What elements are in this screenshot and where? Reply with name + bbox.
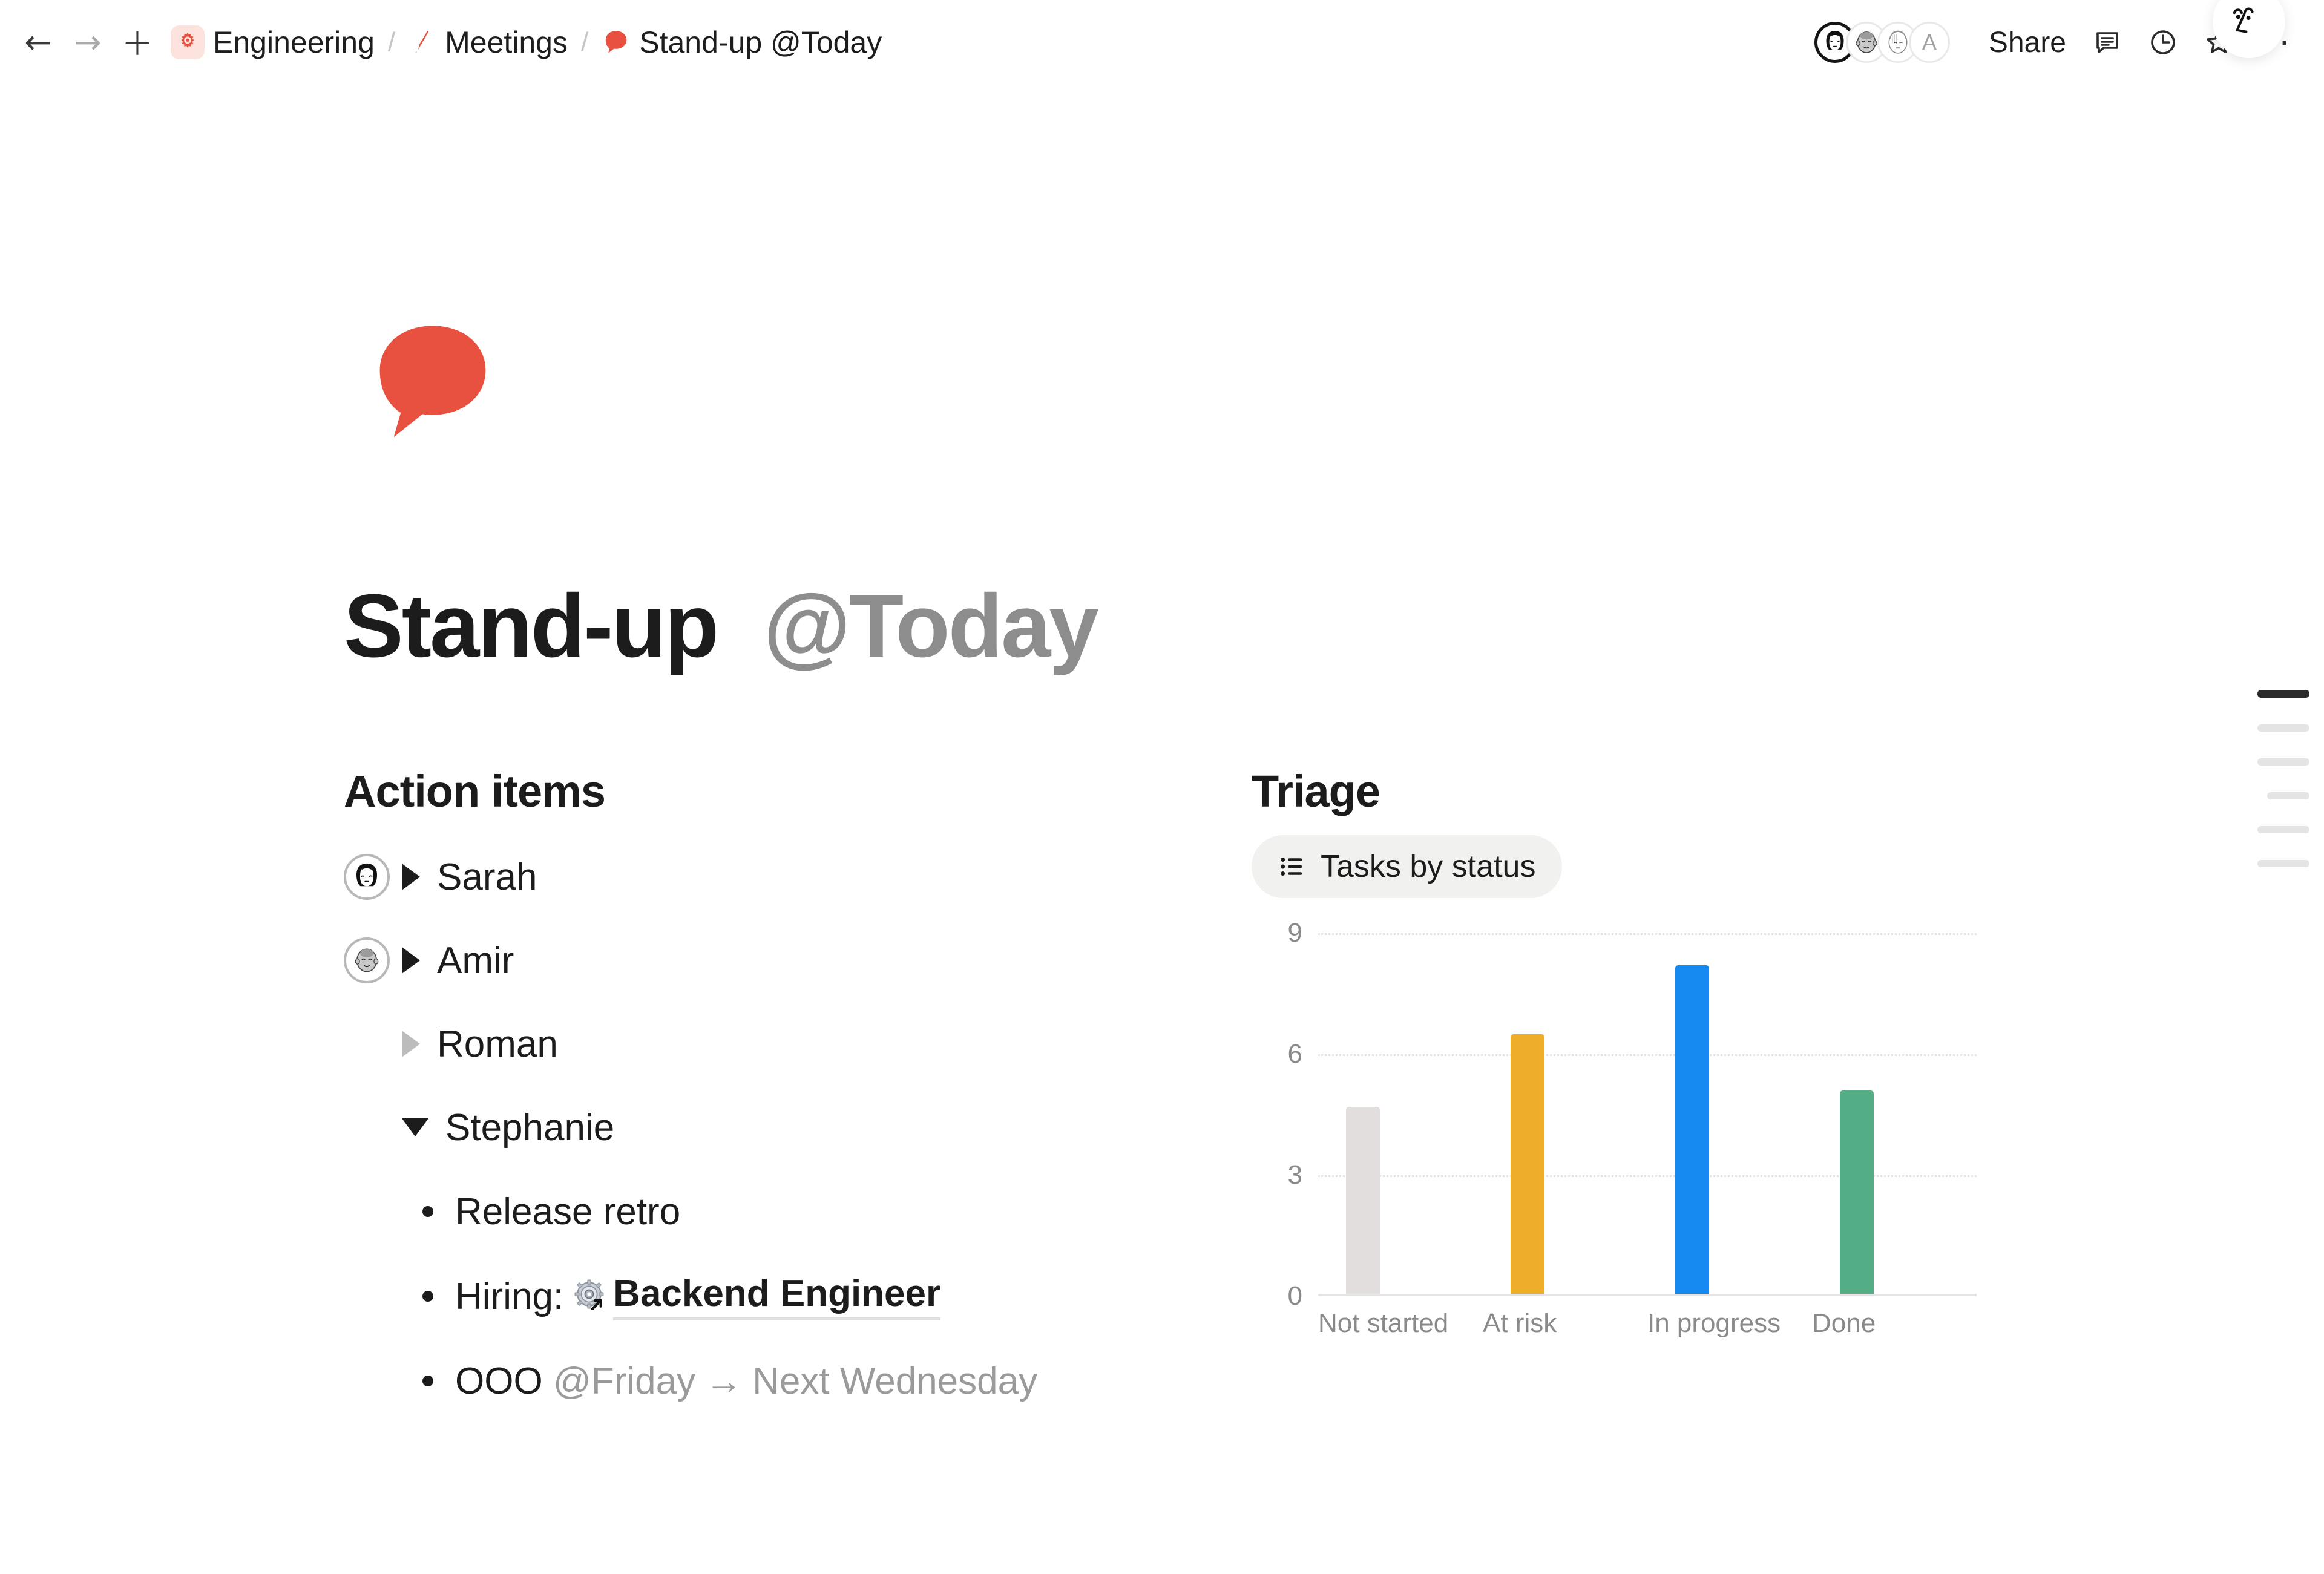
outline-item[interactable]: [2257, 860, 2309, 867]
action-item-roman[interactable]: Roman: [344, 1002, 1252, 1086]
chart-bar-slot: [1483, 933, 1647, 1296]
bullet-icon: [422, 1376, 433, 1386]
page-emoji-speech-bubble[interactable]: [363, 315, 502, 454]
chart-bar[interactable]: [1346, 1107, 1380, 1296]
chart-axis-line: [1318, 1294, 1977, 1296]
triage-section: Triage Tasks by status 0369 Not startedA…: [1252, 766, 2159, 1320]
list-item-text: Release retro: [455, 1190, 680, 1233]
forward-button[interactable]: →: [63, 18, 113, 67]
chart-bars: [1318, 933, 1977, 1296]
list-item[interactable]: Release retro: [344, 1169, 1252, 1254]
back-button[interactable]: ←: [13, 18, 63, 67]
chart-x-slot: At risk: [1483, 1308, 1647, 1339]
list-item[interactable]: Hiring:: [344, 1254, 1252, 1339]
gear-link-icon: [574, 1279, 608, 1313]
page-title[interactable]: Stand-up @Today: [344, 575, 1097, 678]
action-item-label-stephanie: Stephanie: [445, 1106, 614, 1149]
breadcrumb-item-meetings[interactable]: Meetings: [409, 25, 568, 60]
history-button[interactable]: [2135, 15, 2191, 70]
chart-y-tick: 3: [1288, 1160, 1302, 1190]
list-item-prefix: OOO: [455, 1360, 543, 1403]
chart-bar[interactable]: [1840, 1090, 1874, 1296]
chart-bar-slot: [1647, 933, 1812, 1296]
breadcrumb-label-standup: Stand-up @Today: [639, 25, 882, 60]
outline-item[interactable]: [2257, 826, 2309, 833]
date-chip-to[interactable]: Next Wednesday: [752, 1360, 1037, 1403]
chevron-right-icon[interactable]: [402, 1031, 420, 1057]
avatar-placeholder: [344, 1104, 390, 1150]
arrow-left-icon: ←: [24, 26, 51, 59]
chart-x-slot: Done: [1812, 1308, 1977, 1339]
tasks-by-status-chip[interactable]: Tasks by status: [1252, 835, 1562, 898]
breadcrumb-label-engineering: Engineering: [213, 25, 375, 60]
pencil-icon: [409, 28, 436, 56]
new-page-button[interactable]: +: [113, 18, 162, 67]
breadcrumb-label-meetings: Meetings: [445, 25, 568, 60]
chart-bar[interactable]: [1675, 965, 1709, 1296]
action-items-heading: Action items: [344, 766, 1252, 817]
chevron-right-icon[interactable]: [402, 947, 420, 974]
chart-x-tick: At risk: [1483, 1308, 1647, 1339]
action-items-section: Action items Sarah: [344, 766, 1252, 1423]
page-title-main: Stand-up: [344, 576, 717, 676]
chart-y-tick: 9: [1288, 918, 1302, 948]
outline-item[interactable]: [2267, 792, 2309, 799]
list-item-ooo: OOO @Friday → Next Wednesday: [455, 1360, 1037, 1403]
chart-plot-area: [1318, 933, 1977, 1296]
list-icon: [1278, 853, 1306, 880]
document-outline-minimap[interactable]: [2243, 690, 2309, 867]
clock-icon: [2148, 28, 2178, 57]
avatar-letter[interactable]: A: [1909, 22, 1950, 63]
comment-button[interactable]: [2079, 15, 2135, 70]
chart-x-slot: In progress: [1647, 1308, 1812, 1339]
list-item[interactable]: OOO @Friday → Next Wednesday: [344, 1339, 1252, 1423]
comment-icon: [2093, 28, 2122, 57]
arrow-right-icon: →: [74, 26, 101, 59]
action-item-amir[interactable]: Amir: [344, 919, 1252, 1002]
action-item-label-roman: Roman: [437, 1023, 558, 1066]
assistant-face-icon: [2227, 0, 2271, 44]
outline-item[interactable]: [2257, 724, 2309, 732]
bullet-icon: [422, 1291, 433, 1302]
action-item-sarah[interactable]: Sarah: [344, 835, 1252, 919]
chart-x-slot: Not started: [1318, 1308, 1483, 1339]
chart-y-tick: 0: [1288, 1281, 1302, 1311]
share-button[interactable]: Share: [1975, 18, 2079, 68]
chart-x-tick: Not started: [1318, 1308, 1483, 1339]
action-item-label-sarah: Sarah: [437, 856, 537, 899]
chart-bar-slot: [1812, 933, 1977, 1296]
chart-y-axis: 0369: [1262, 933, 1302, 1296]
date-chip-from[interactable]: @Friday: [553, 1360, 695, 1403]
arrow-right-icon: →: [705, 1360, 743, 1403]
breadcrumb-separator: /: [581, 27, 588, 57]
action-item-stephanie[interactable]: Stephanie: [344, 1086, 1252, 1169]
avatar-stack: A: [1814, 22, 1950, 63]
outline-item[interactable]: [2257, 690, 2309, 698]
speech-bubble-icon: [602, 28, 631, 57]
chart-x-tick: In progress: [1647, 1308, 1812, 1339]
bullet-icon: [422, 1206, 433, 1217]
chevron-right-icon[interactable]: [402, 864, 420, 890]
triage-heading: Triage: [1252, 766, 2159, 817]
chart-bar-slot: [1318, 933, 1483, 1296]
breadcrumb-separator: /: [388, 27, 395, 57]
chart-x-axis: Not startedAt riskIn progressDone: [1318, 1308, 1977, 1339]
chart-bar[interactable]: [1511, 1034, 1544, 1296]
navigation-controls: ← → +: [13, 18, 162, 67]
chart-y-tick: 6: [1288, 1039, 1302, 1069]
chart-x-tick: Done: [1812, 1308, 1977, 1339]
top-toolbar: ← → + Engineering / Meetings / Stand: [0, 0, 2324, 85]
outline-item[interactable]: [2257, 758, 2309, 766]
plus-icon: +: [122, 24, 153, 61]
breadcrumb-item-engineering[interactable]: Engineering: [171, 25, 375, 60]
breadcrumb: Engineering / Meetings / Stand-up @Today: [171, 25, 882, 60]
page-link-backend-engineer[interactable]: Backend Engineer: [613, 1272, 940, 1320]
chevron-down-icon[interactable]: [402, 1118, 428, 1136]
breadcrumb-item-standup[interactable]: Stand-up @Today: [602, 25, 882, 60]
action-item-label-amir: Amir: [437, 939, 514, 982]
gear-icon: [171, 25, 205, 59]
avatar-sarah: [344, 854, 390, 900]
tasks-by-status-label: Tasks by status: [1321, 848, 1535, 885]
tasks-by-status-chart: 0369 Not startedAt riskIn progressDone: [1262, 933, 1977, 1320]
list-item-prefix: Hiring:: [455, 1275, 563, 1318]
list-item-hiring: Hiring:: [455, 1272, 940, 1320]
avatar-amir: [344, 937, 390, 983]
page-title-date: @Today: [763, 576, 1097, 676]
avatar-letter-label: A: [1922, 30, 1937, 55]
avatar-placeholder: [344, 1021, 390, 1067]
